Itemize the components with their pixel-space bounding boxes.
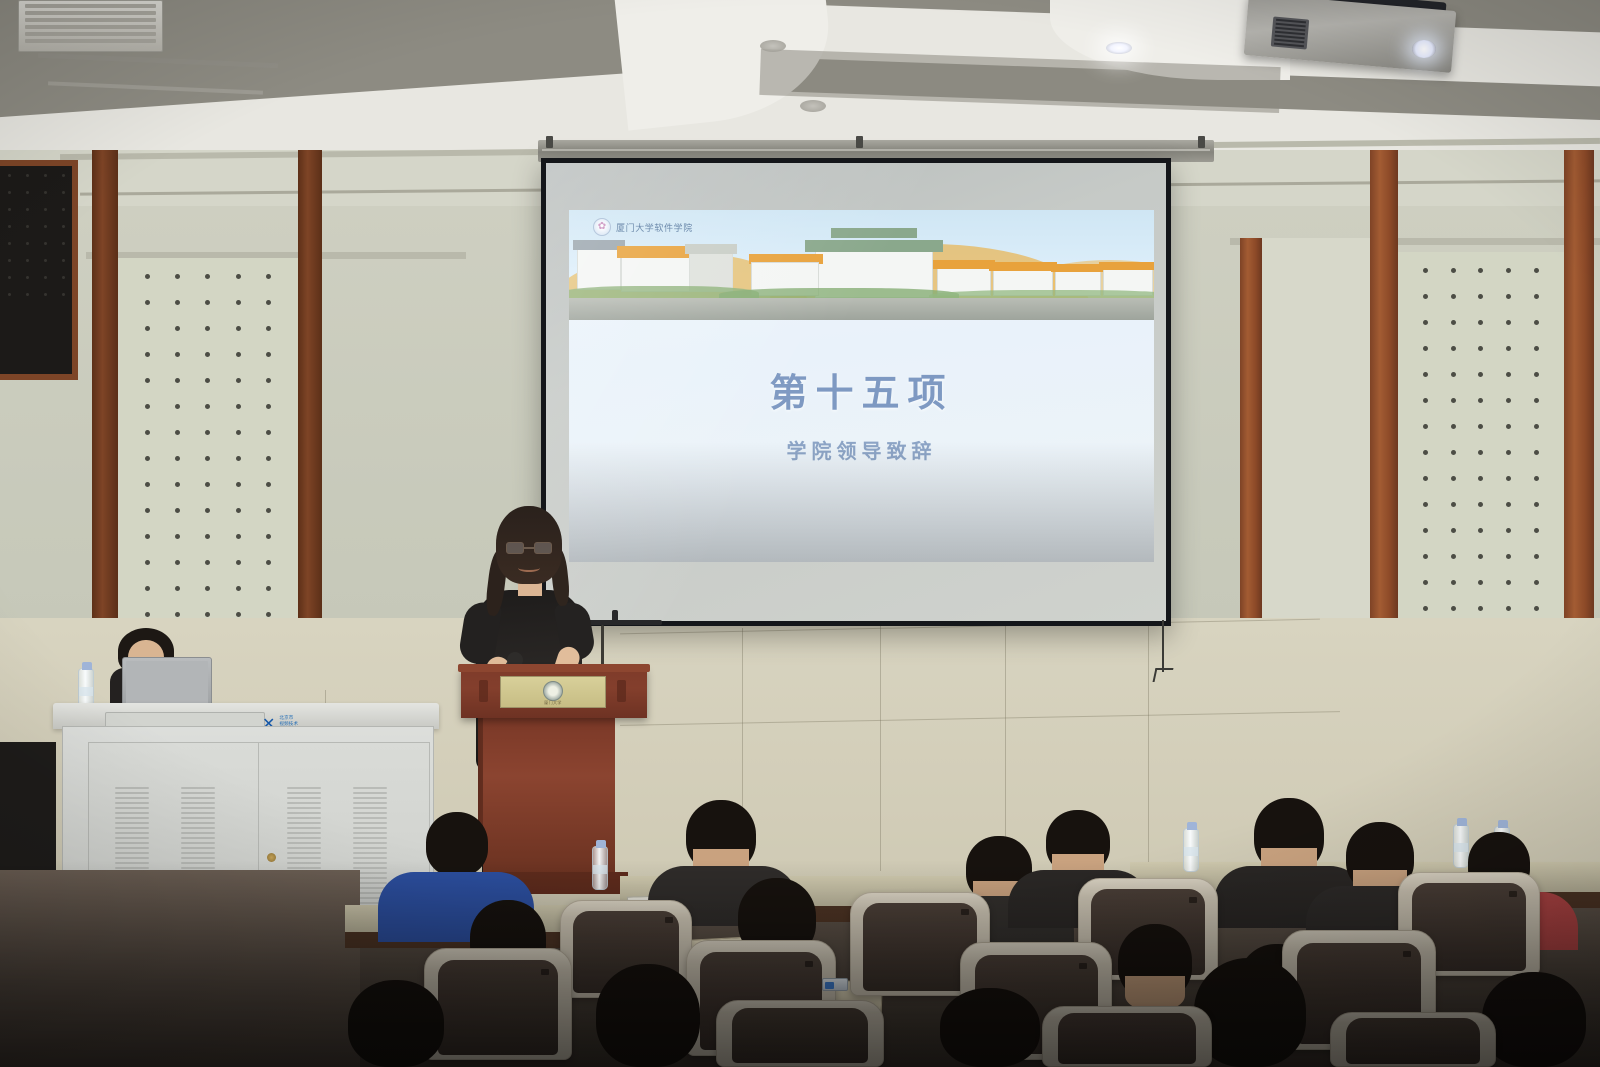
audience-head-foreground [1482, 972, 1586, 1067]
smartphone[interactable] [822, 978, 848, 991]
wall-seam-v [1005, 624, 1006, 872]
screen-surface: ✿ 厦门大学软件学院 第十五项 学院领导致辞 [546, 163, 1166, 621]
downlight-on [1106, 42, 1132, 54]
presenter-smile [518, 564, 540, 572]
logo-text: 厦门大学软件学院 [616, 221, 693, 234]
slide-title: 第十五项 [569, 362, 1154, 417]
podium-plaque: 厦门大学 [500, 676, 606, 708]
wood-pillar-left-2 [298, 150, 322, 690]
laptop-screen [126, 661, 208, 705]
audience-head [1254, 798, 1324, 872]
water-bottle [1453, 824, 1469, 868]
auditorium-chair[interactable] [1330, 1012, 1496, 1067]
wall-seam-v [880, 626, 881, 871]
eyeglasses-icon [506, 542, 552, 554]
wall-seam-v [1148, 622, 1149, 872]
water-bottle [592, 846, 608, 890]
lecture-hall-photo: ✿ 厦门大学软件学院 第十五项 学院领导致辞 [0, 0, 1600, 1067]
screen-pull-cord-tip [1153, 668, 1174, 682]
audience-head [426, 812, 488, 876]
podium-top-edge [458, 664, 650, 672]
projector-lens-glow [1412, 40, 1436, 58]
projection-screen: ✿ 厦门大学软件学院 第十五项 学院领导致辞 [541, 158, 1171, 626]
speaker-grille-panel [0, 160, 78, 380]
podium-plaque-text: 厦门大学 [501, 700, 605, 706]
slide-banner-image: ✿ 厦门大学软件学院 [569, 210, 1154, 320]
air-conditioner-vent [18, 0, 163, 52]
mic-rail-bracket [612, 610, 618, 624]
audience-head [686, 800, 756, 872]
wood-pillar-right-1 [1370, 150, 1398, 695]
logo-flower-icon: ✿ [598, 222, 606, 232]
downlight-off [760, 40, 786, 52]
acoustic-panel-left [118, 258, 298, 678]
audience-head-foreground [940, 988, 1040, 1067]
projected-slide: ✿ 厦门大学软件学院 第十五项 学院领导致辞 [569, 210, 1154, 562]
cabinet-lock-icon[interactable] [267, 853, 276, 862]
av-brand-line-1: 北京市 [279, 715, 334, 721]
audience-head-foreground [348, 980, 444, 1067]
auditorium-chair[interactable] [1042, 1006, 1212, 1067]
auditorium-chair[interactable] [424, 948, 572, 1060]
screen-pull-cord [1162, 620, 1164, 672]
floor-left [0, 870, 360, 1067]
audience-head-foreground [596, 964, 700, 1067]
wood-pillar-right-2 [1564, 150, 1594, 695]
auditorium-chair[interactable] [716, 1000, 884, 1067]
operator-laptop [122, 657, 212, 709]
water-bottle [1183, 828, 1199, 872]
acoustic-panel-right [1398, 252, 1564, 680]
university-logo-badge: ✿ [593, 218, 611, 236]
slide-shadow [569, 442, 1154, 562]
audience-head [1046, 810, 1110, 874]
downlight-off-2 [800, 100, 826, 112]
projector-vent [1271, 16, 1309, 49]
audience-head [1118, 924, 1192, 1000]
wood-pillar-left-1 [92, 150, 118, 690]
slide-logo: ✿ 厦门大学软件学院 [593, 218, 693, 236]
university-seal-icon [543, 681, 563, 701]
